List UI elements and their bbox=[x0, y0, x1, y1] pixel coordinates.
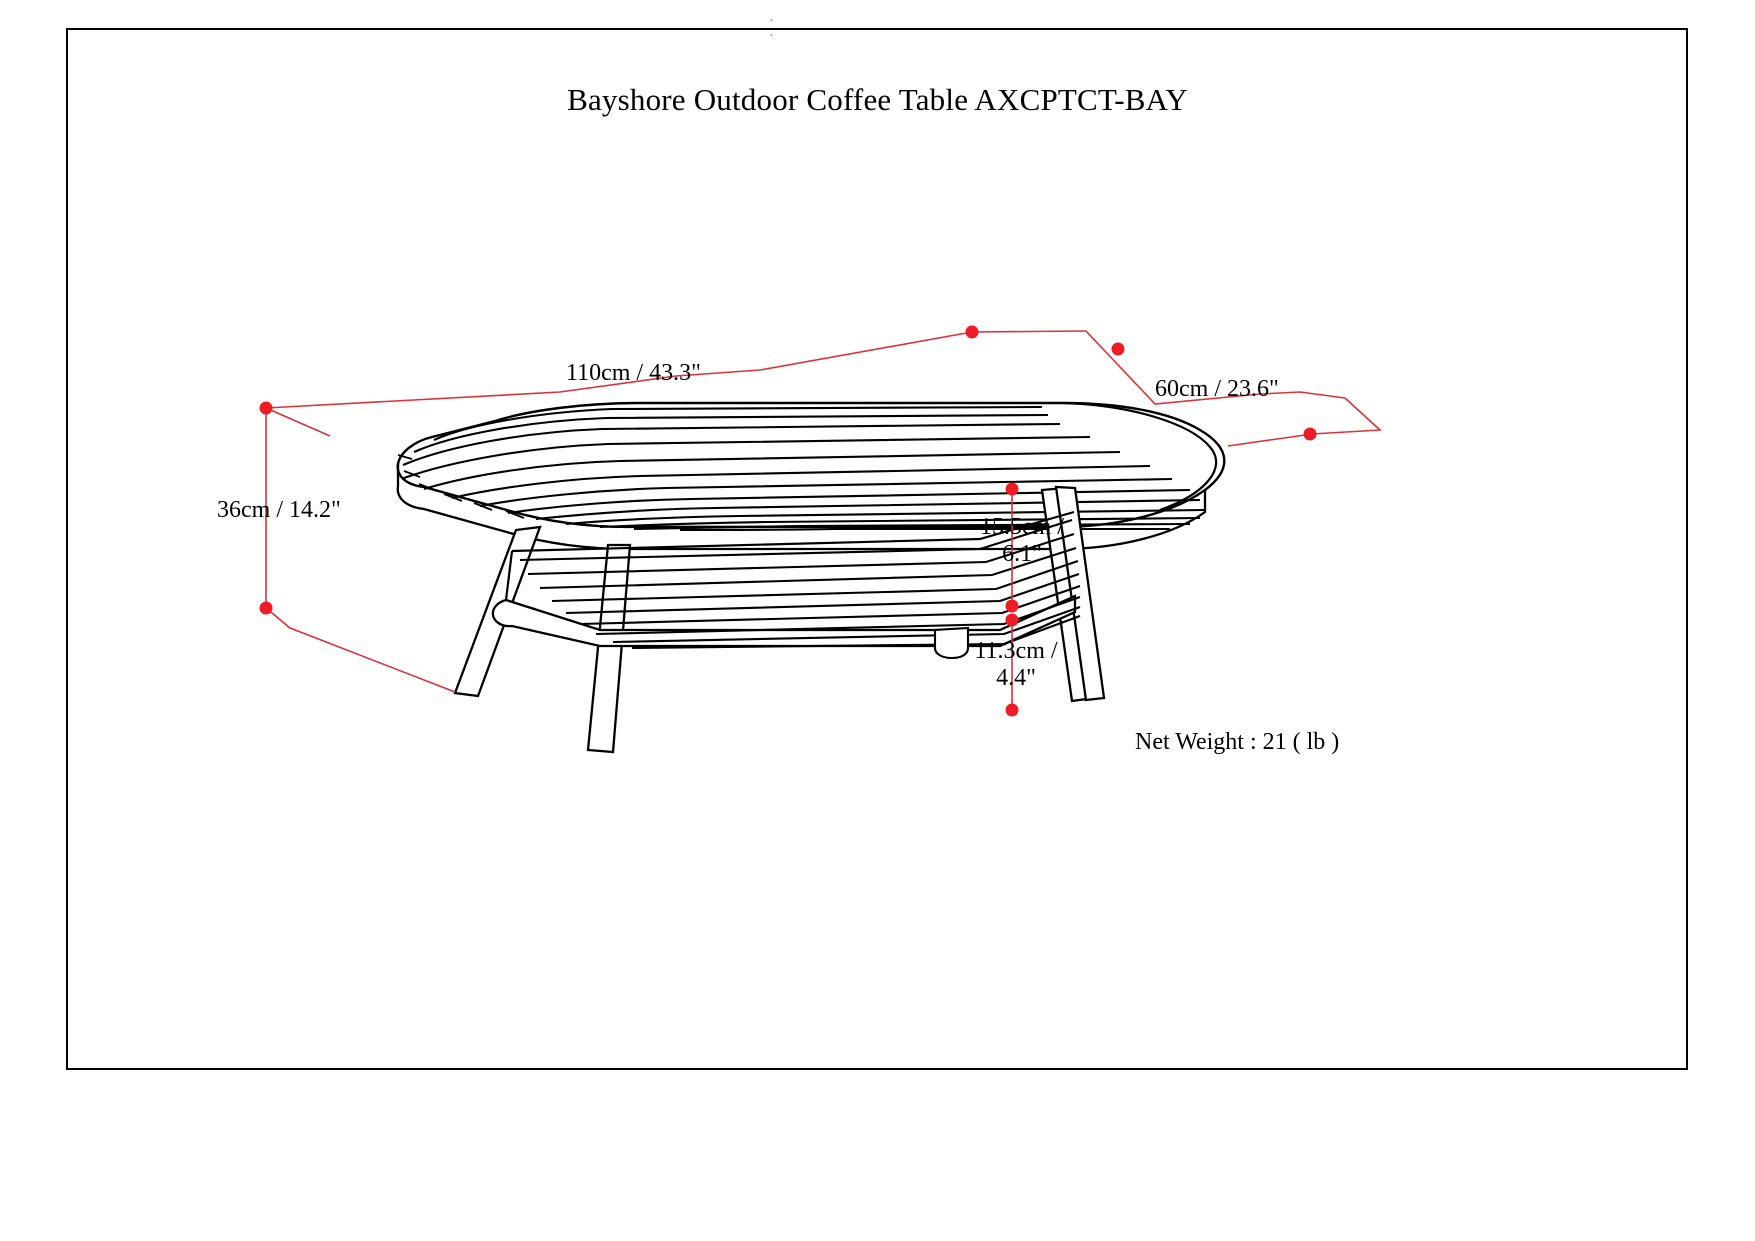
dimension-label-depth: 60cm / 23.6" bbox=[1155, 376, 1279, 403]
net-weight-label: Net Weight : 21 ( lb ) bbox=[1135, 729, 1339, 756]
shelf-clearance-line1: 15.5cm / bbox=[980, 514, 1064, 540]
page-title: Bayshore Outdoor Coffee Table AXCPTCT-BA… bbox=[0, 82, 1755, 118]
dimension-label-height: 36cm / 14.2" bbox=[217, 497, 341, 524]
drawing-page: . . Bayshore Outdoor Coffee Table AXCPTC… bbox=[0, 0, 1755, 1241]
dimension-label-shelf-clearance: 15.5cm / 6.1" bbox=[968, 514, 1076, 568]
dimension-label-under-shelf: 11.3cm / 4.4" bbox=[962, 638, 1070, 692]
under-shelf-line2: 4.4" bbox=[996, 665, 1036, 691]
dimension-label-length: 110cm / 43.3" bbox=[566, 360, 701, 387]
page-frame-border bbox=[66, 28, 1688, 1070]
under-shelf-line1: 11.3cm / bbox=[974, 638, 1057, 664]
header-registration-marks: . . bbox=[770, 10, 850, 22]
shelf-clearance-line2: 6.1" bbox=[1002, 541, 1042, 567]
